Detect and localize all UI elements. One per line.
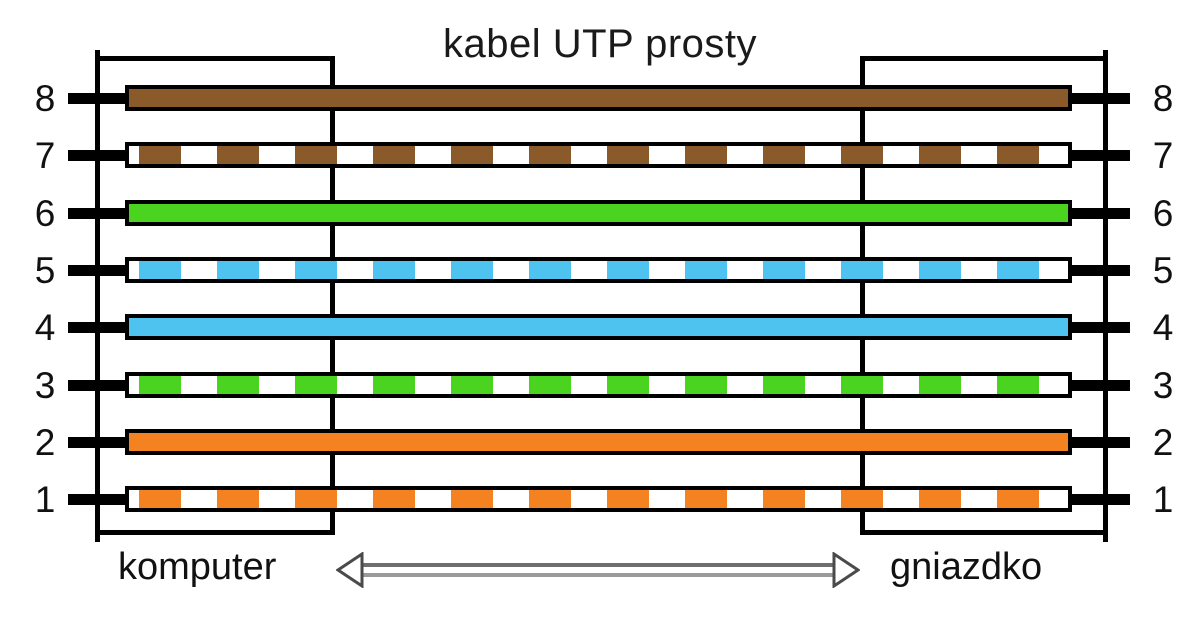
left-pin-number-3: 3 [22,367,68,404]
right-pin-number-4: 4 [1140,309,1186,346]
left-pin-lead-4 [68,322,130,333]
left-pin-number-5: 5 [22,252,68,289]
socket-connector-bracket [860,56,1108,535]
right-pin-lead-2 [1068,437,1130,448]
wire-fill-solid [129,89,1068,107]
wire-orange [125,429,1072,455]
left-pin-number-4: 4 [22,309,68,346]
left-pin-number-7: 7 [22,137,68,174]
wire-white-blue [125,257,1072,283]
left-pin-number-6: 6 [22,195,68,232]
left-pin-rail [95,50,100,542]
left-pin-lead-7 [68,150,130,161]
right-pin-rail [1103,50,1108,542]
wire-fill-striped [129,376,1068,394]
wire-blue [125,314,1072,340]
left-pin-lead-5 [68,265,130,276]
right-pin-lead-8 [1068,93,1130,104]
right-pin-lead-6 [1068,208,1130,219]
wire-fill-solid [129,433,1068,451]
right-pin-lead-4 [1068,322,1130,333]
left-pin-lead-1 [68,494,130,505]
right-pin-lead-5 [1068,265,1130,276]
computer-connector-bracket [95,56,335,535]
wire-brown [125,85,1072,111]
wire-green [125,200,1072,226]
left-pin-lead-6 [68,208,130,219]
left-end-label: komputer [118,546,276,589]
wire-fill-solid [129,318,1068,336]
right-pin-number-5: 5 [1140,252,1186,289]
right-pin-number-8: 8 [1140,80,1186,117]
wire-fill-solid [129,204,1068,222]
left-pin-lead-3 [68,380,130,391]
right-pin-number-1: 1 [1140,481,1186,518]
wire-fill-striped [129,490,1068,508]
utp-straight-cable-diagram: kabel UTP prosty 8877665544332211 komput… [0,0,1200,630]
right-pin-lead-7 [1068,150,1130,161]
left-pin-number-2: 2 [22,424,68,461]
right-pin-number-3: 3 [1140,367,1186,404]
cable-span-double-arrow-icon [336,552,860,588]
wire-white-brown [125,142,1072,168]
wire-fill-striped [129,146,1068,164]
left-pin-number-8: 8 [22,80,68,117]
right-pin-number-7: 7 [1140,137,1186,174]
left-pin-lead-2 [68,437,130,448]
wire-white-orange [125,486,1072,512]
wire-white-green [125,372,1072,398]
right-pin-lead-1 [1068,494,1130,505]
right-pin-lead-3 [1068,380,1130,391]
right-pin-number-2: 2 [1140,424,1186,461]
left-pin-number-1: 1 [22,481,68,518]
right-pin-number-6: 6 [1140,195,1186,232]
right-end-label: gniazdko [890,546,1042,589]
wire-fill-striped [129,261,1068,279]
left-pin-lead-8 [68,93,130,104]
